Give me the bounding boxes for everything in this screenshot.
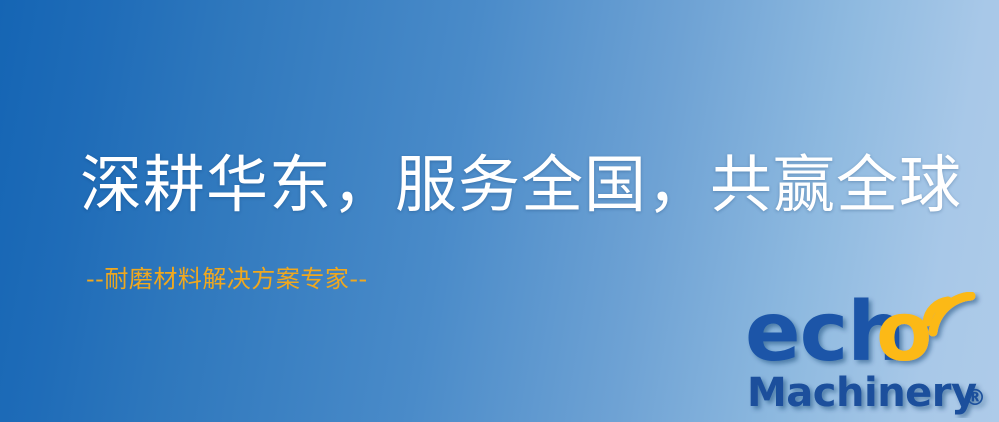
banner-subtitle: --耐磨材料解决方案专家-- (86, 265, 368, 294)
signal-arcs-icon (927, 296, 971, 332)
logo-trademark-symbol: ® (964, 386, 986, 411)
banner-headline: 深耕华东，服务全国，共赢全球 (80, 152, 962, 217)
hero-banner: 深耕华东，服务全国，共赢全球 --耐磨材料解决方案专家-- ech o (0, 0, 999, 422)
logo-wordmark-o-accent: o (876, 292, 932, 380)
logo-tagline-group: Machinery ® (747, 370, 986, 416)
echo-machinery-logo[interactable]: ech o Machinery ® (745, 292, 995, 418)
logo-wordmark-group: ech o (745, 292, 971, 380)
logo-tagline-text: Machinery (747, 370, 977, 416)
